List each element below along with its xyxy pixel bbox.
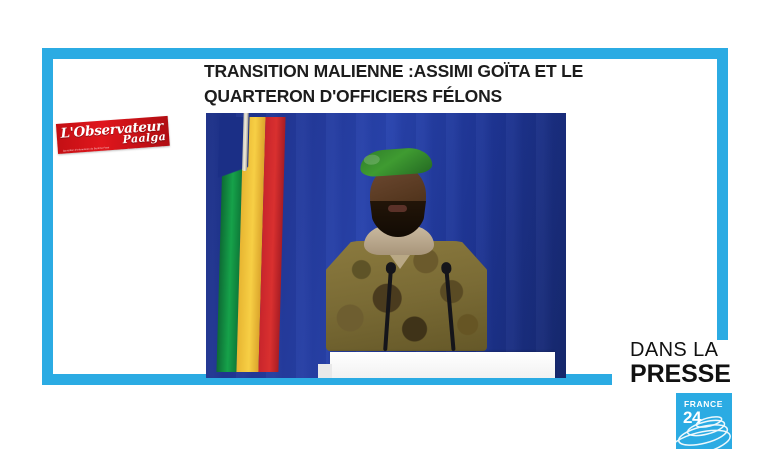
programme-title-line-2: PRESSE [630,362,750,387]
headline-text: TRANSITION MALIENNE :ASSIMI GOÏTA ET LE … [204,59,604,109]
mali-flag [216,117,285,372]
frame-top-bar [42,48,728,59]
france24-logo[interactable]: FRANCE 24 [676,393,732,449]
publisher-logo-banner: L'Observateur Paalga Quotidien d'informa… [56,116,170,154]
speaker-mouth [388,205,407,212]
speaker-green-beret [359,147,433,178]
publisher-logo-script-text: Paalga [122,130,166,146]
france24-swirl-icon [676,413,732,449]
publisher-logo-tagline: Quotidien d'information du Burkina Faso [63,146,110,152]
programme-title-line-1: DANS LA [630,340,750,360]
frame-right-bar [717,48,728,340]
screenshot-stage: TRANSITION MALIENNE :ASSIMI GOÏTA ET LE … [0,0,765,456]
programme-title: DANS LA PRESSE [630,340,750,387]
frame-left-bar [42,48,53,385]
speaker-figure [324,149,489,349]
video-still-image[interactable] [206,113,566,378]
publisher-logo-observateur-paalga[interactable]: L'Observateur Paalga Quotidien d'informa… [57,121,169,159]
podium [330,352,555,378]
